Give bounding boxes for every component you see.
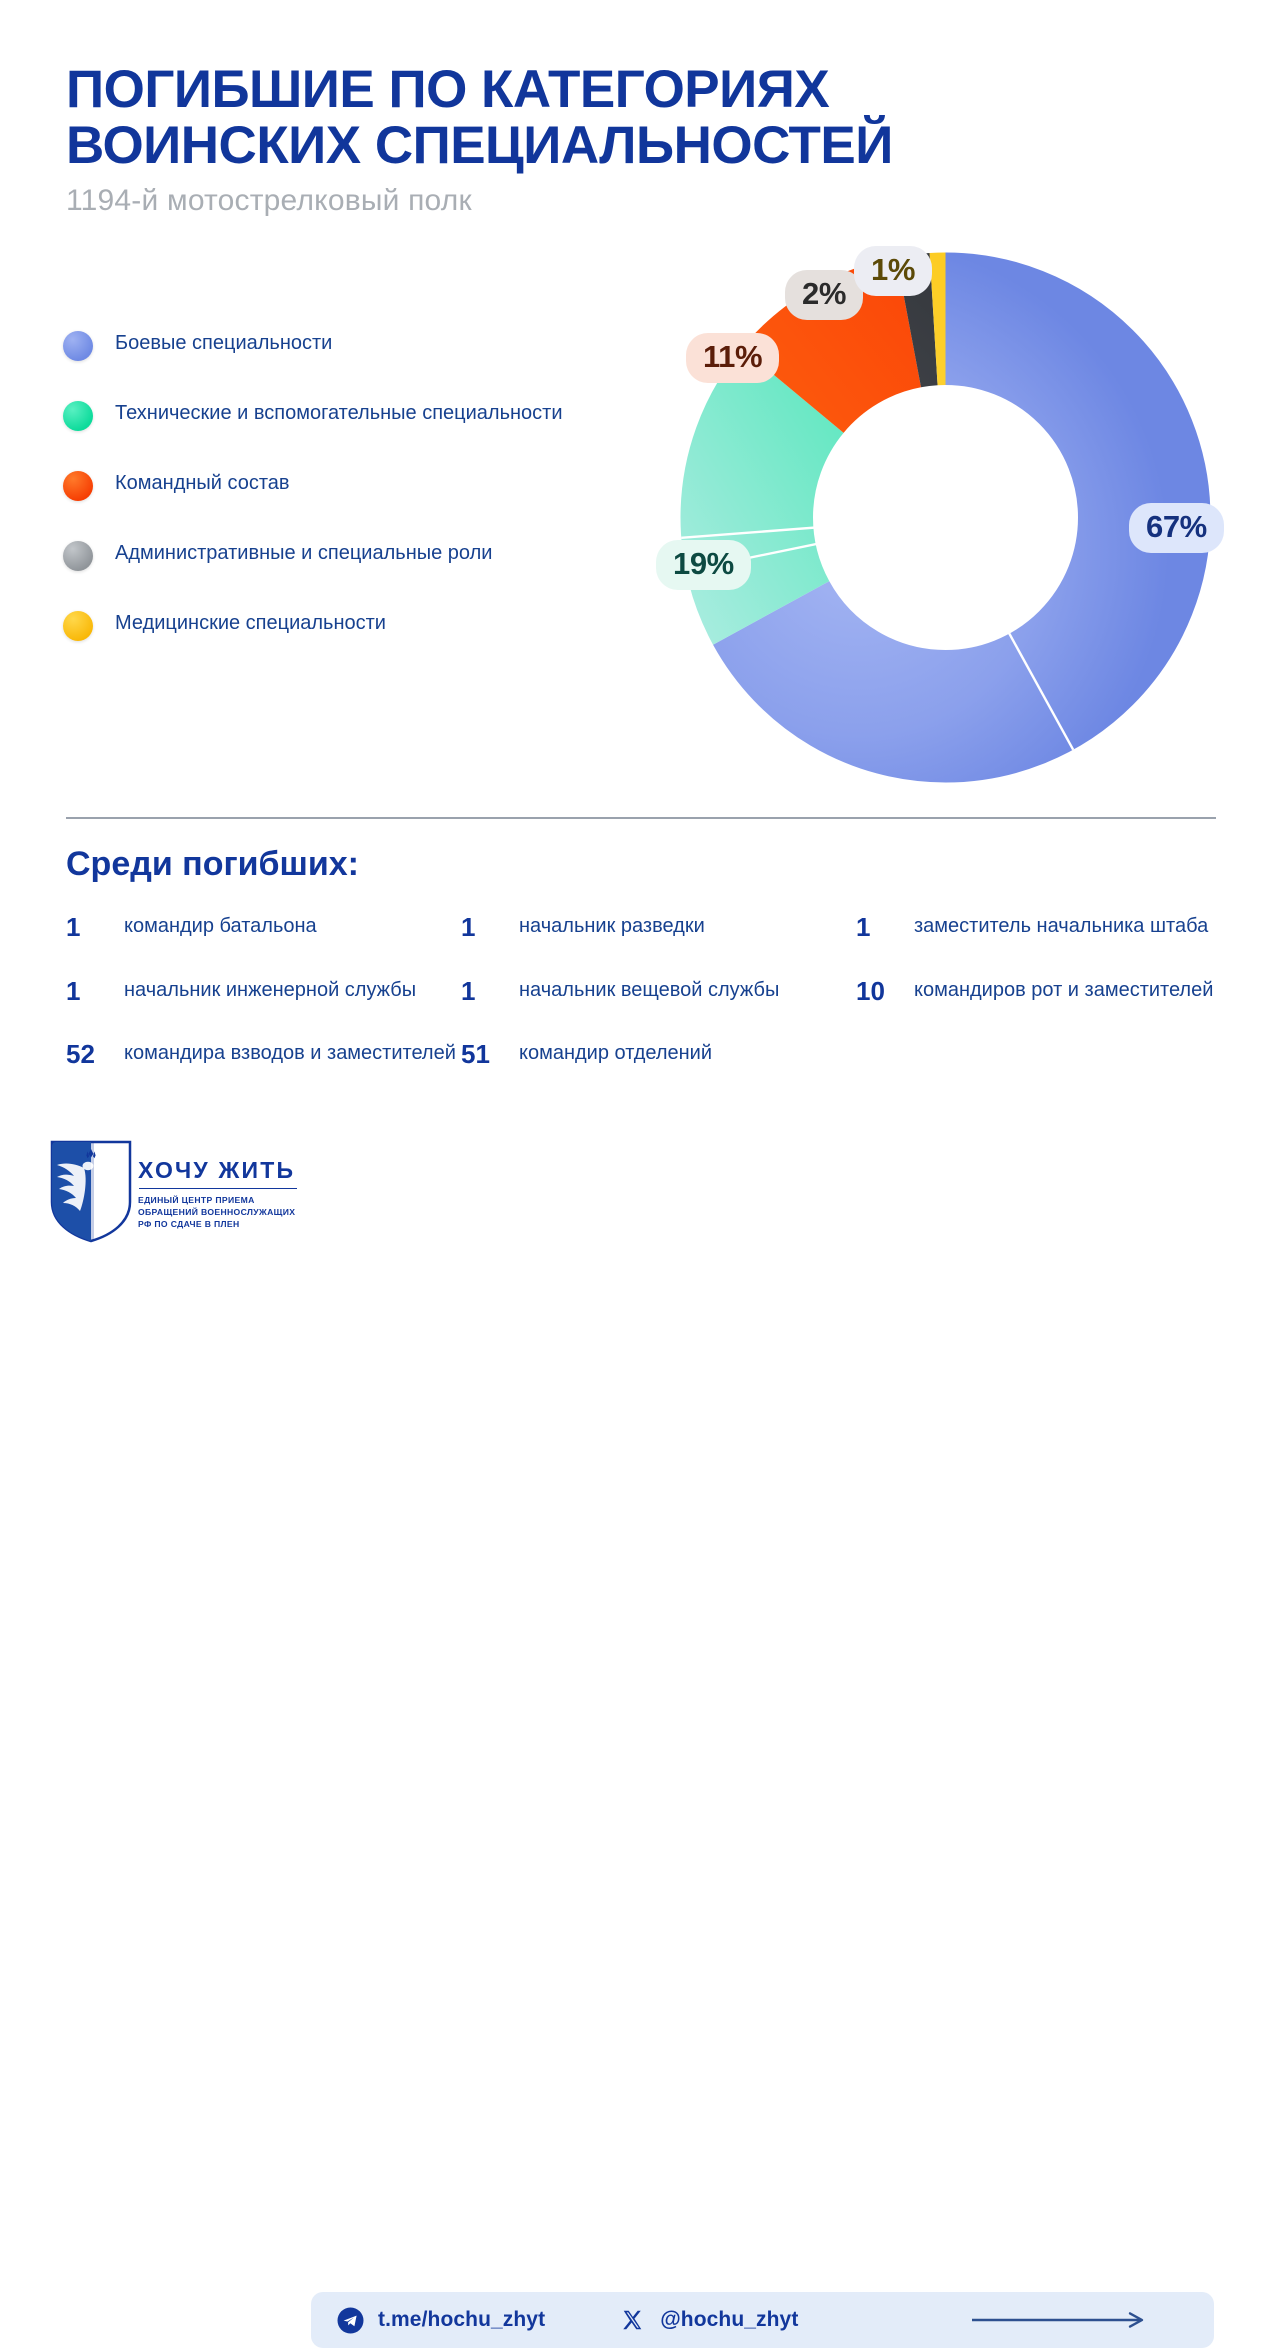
- pct-label-technical: 19%: [656, 540, 751, 590]
- shield-dove-icon: [48, 1140, 134, 1244]
- stat-item: 1 заместитель начальника штаба: [856, 912, 1226, 944]
- legend-item-label: Технические и вспомогательные специально…: [115, 400, 563, 426]
- page-footer: ХОЧУ ЖИТЬ ЕДИНЫЙ ЦЕНТР ПРИЕМА ОБРАЩЕНИЙ …: [0, 1132, 1280, 1262]
- section-divider: [66, 817, 1216, 819]
- stat-count: 1: [856, 912, 914, 944]
- brand-name: ХОЧУ ЖИТЬ: [138, 1159, 297, 1182]
- stat-count: 10: [856, 976, 914, 1008]
- pct-value: 19%: [673, 546, 734, 582]
- legend-color-dot: [63, 611, 93, 641]
- legend-color-dot: [63, 541, 93, 571]
- stat-count: 1: [461, 912, 519, 944]
- stat-item: 1 начальник разведки: [461, 912, 856, 944]
- brand-tagline: ЕДИНЫЙ ЦЕНТР ПРИЕМА ОБРАЩЕНИЙ ВОЕННОСЛУЖ…: [138, 1195, 297, 1231]
- legend-item-administrative[interactable]: Административные и специальные роли: [63, 540, 623, 574]
- stat-count: 52: [66, 1039, 124, 1071]
- stat-role: командира взводов и заместителей: [124, 1039, 456, 1066]
- brand-logo[interactable]: ХОЧУ ЖИТЬ ЕДИНЫЙ ЦЕНТР ПРИЕМА ОБРАЩЕНИЙ …: [48, 1140, 297, 1244]
- stat-count: 1: [66, 912, 124, 944]
- casualties-title: Среди погибших:: [66, 845, 1226, 884]
- legend-item-medical[interactable]: Медицинские специальности: [63, 610, 623, 644]
- legend-item-label: Медицинские специальности: [115, 610, 386, 636]
- social-link-telegram[interactable]: t.me/hochu_zhyt: [337, 2307, 545, 2334]
- pct-value: 2%: [802, 276, 846, 312]
- stat-role: командир батальона: [124, 912, 317, 939]
- casualties-grid: 1 командир батальона 1 начальник разведк…: [66, 912, 1226, 1071]
- legend-item-label: Административные и специальные роли: [115, 540, 492, 566]
- stat-item: 1 начальник инженерной службы: [66, 976, 461, 1008]
- stat-role: командир отделений: [519, 1039, 712, 1066]
- legend-item-command[interactable]: Командный состав: [63, 470, 623, 504]
- brand-logo-text: ХОЧУ ЖИТЬ ЕДИНЫЙ ЦЕНТР ПРИЕМА ОБРАЩЕНИЙ …: [138, 1153, 297, 1231]
- legend-item-label: Командный состав: [115, 470, 290, 496]
- social-link-label: t.me/hochu_zhyt: [378, 2308, 545, 2332]
- pct-label-administrative: 2%: [785, 270, 863, 320]
- pct-label-command: 11%: [686, 333, 779, 383]
- stat-role: заместитель начальника штаба: [914, 912, 1208, 939]
- stat-item: 1 командир батальона: [66, 912, 461, 944]
- pct-label-medical: 1%: [854, 246, 932, 296]
- chart-legend: Боевые специальности Технические и вспом…: [63, 330, 623, 680]
- legend-item-label: Боевые специальности: [115, 330, 332, 356]
- stat-item: 52 командира взводов и заместителей: [66, 1039, 461, 1071]
- pct-value: 11%: [703, 339, 762, 375]
- stat-item: 51 командир отделений: [461, 1039, 856, 1071]
- legend-item-combat[interactable]: Боевые специальности: [63, 330, 623, 364]
- social-link-x[interactable]: @hochu_zhyt: [619, 2307, 798, 2334]
- stat-role: начальник инженерной службы: [124, 976, 416, 1003]
- stat-count: 1: [461, 976, 519, 1008]
- telegram-icon: [337, 2307, 364, 2334]
- stat-role: начальник вещевой службы: [519, 976, 779, 1003]
- pct-label-combat: 67%: [1129, 503, 1224, 553]
- donut-hole: [814, 386, 1078, 650]
- stat-item: 10 командиров рот и заместителей: [856, 976, 1226, 1008]
- stat-role: командиров рот и заместителей: [914, 976, 1213, 1003]
- donut-chart: 67% 19% 11% 2% 1%: [680, 252, 1211, 783]
- casualties-section: Среди погибших: 1 командир батальона 1 н…: [66, 845, 1226, 1071]
- legend-color-dot: [63, 331, 93, 361]
- shield-dove-svg: [48, 1140, 134, 1244]
- stat-item: 1 начальник вещевой службы: [461, 976, 856, 1008]
- brand-rule: [139, 1188, 297, 1189]
- legend-color-dot: [63, 471, 93, 501]
- pct-value: 1%: [871, 252, 915, 288]
- page-title: ПОГИБШИЕ ПО КАТЕГОРИЯХ ВОИНСКИХ СПЕЦИАЛЬ…: [66, 62, 1066, 174]
- stat-role: начальник разведки: [519, 912, 705, 939]
- social-link-label: @hochu_zhyt: [660, 2308, 798, 2332]
- legend-color-dot: [63, 401, 93, 431]
- page-subtitle: 1194-й мотострелковый полк: [66, 184, 1066, 218]
- page-header: ПОГИБШИЕ ПО КАТЕГОРИЯХ ВОИНСКИХ СПЕЦИАЛЬ…: [66, 62, 1066, 218]
- social-links-bar: t.me/hochu_zhyt @hochu_zhyt: [311, 2292, 1214, 2348]
- donut-segments: [681, 319, 1144, 750]
- forward-arrow-icon[interactable]: [970, 2310, 1150, 2330]
- legend-item-technical[interactable]: Технические и вспомогательные специально…: [63, 400, 623, 434]
- x-twitter-icon: [619, 2307, 646, 2334]
- stat-count: 1: [66, 976, 124, 1008]
- pct-value: 67%: [1146, 509, 1207, 545]
- stat-count: 51: [461, 1039, 519, 1071]
